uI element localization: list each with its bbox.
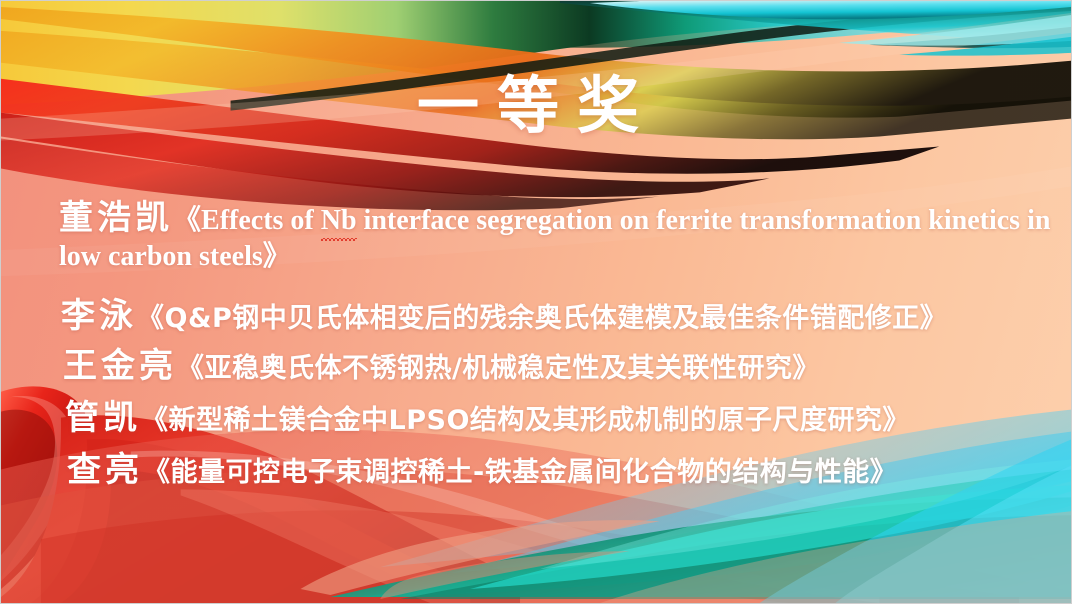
winner-name: 管凯 — [65, 398, 141, 438]
work-title: 新型稀土镁合金中LPSO结构及其形成机制的原子尺度研究 — [169, 405, 883, 436]
slide-content: 一等奖 董浩凯《Effects of Nb interface segregat… — [1, 1, 1072, 604]
list-item: 管凯《新型稀土镁合金中LPSO结构及其形成机制的原子尺度研究》 — [65, 399, 910, 438]
presentation-slide: 一等奖 董浩凯《Effects of Nb interface segregat… — [0, 0, 1072, 604]
work-title: 亚稳奥氏体不锈钢热/机械稳定性及其关联性研究 — [205, 353, 793, 384]
bracket-open: 《 — [177, 353, 205, 384]
bracket-close: 》 — [263, 241, 291, 272]
list-item: 王金亮《亚稳奥氏体不锈钢热/机械稳定性及其关联性研究》 — [63, 347, 820, 386]
winner-name: 董浩凯 — [59, 198, 173, 238]
bracket-open: 《 — [141, 405, 169, 436]
work-title: 能量可控电子束调控稀土-铁基金属间化合物的结构与性能 — [171, 457, 870, 488]
bracket-close: 》 — [870, 457, 898, 488]
bracket-open: 《 — [143, 457, 171, 488]
list-item: 董浩凯《Effects of Nb interface segregation … — [59, 199, 1065, 275]
bracket-close: 》 — [920, 303, 948, 334]
list-item: 李泳《Q&P钢中贝氏体相变后的残余奥氏体建模及最佳条件错配修正》 — [61, 297, 947, 336]
winner-name: 李泳 — [61, 296, 137, 336]
bracket-close: 》 — [882, 405, 910, 436]
bracket-open: 《 — [137, 303, 165, 334]
slide-title: 一等奖 — [1, 73, 1072, 140]
list-item: 查亮《能量可控电子束调控稀土-铁基金属间化合物的结构与性能》 — [67, 451, 897, 490]
bracket-close: 》 — [792, 353, 820, 384]
work-title: Q&P钢中贝氏体相变后的残余奥氏体建模及最佳条件错配修正 — [165, 303, 920, 334]
bracket-open: 《 — [173, 205, 201, 236]
winner-name: 王金亮 — [63, 346, 177, 386]
winner-name: 查亮 — [67, 450, 143, 490]
work-title-prefix: Effects of — [201, 205, 321, 236]
work-title-misspelled-term: Nb — [321, 203, 357, 239]
